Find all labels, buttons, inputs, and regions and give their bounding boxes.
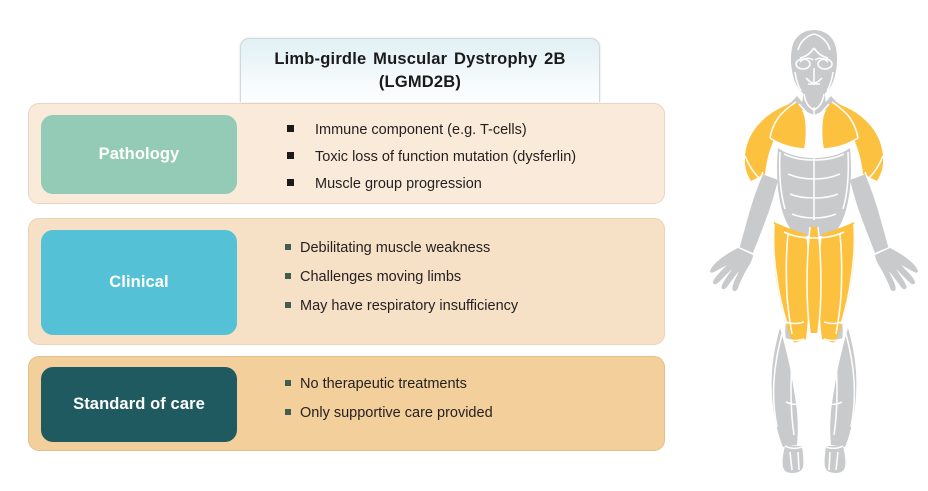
page-title: Limb-girdle Muscular Dystrophy 2B (LGMD2… (264, 48, 575, 93)
list-item: May have respiratory insufficiency (285, 298, 652, 314)
list-item: Toxic loss of function mutation (dysferl… (287, 149, 652, 165)
title-line-1: Limb-girdle Muscular Dystrophy 2B (274, 50, 565, 68)
list-item-text: Muscle group progression (315, 176, 482, 192)
bullet-list-pathology: Immune component (e.g. T-cells) Toxic lo… (287, 122, 652, 192)
bullet-square-icon (285, 302, 291, 308)
list-item-text: Debilitating muscle weakness (300, 240, 490, 256)
list-item: Debilitating muscle weakness (285, 240, 652, 256)
bullet-square-icon (287, 152, 294, 159)
list-item-text: Toxic loss of function mutation (dysferl… (315, 149, 576, 165)
bullet-square-icon (287, 125, 294, 132)
bullet-square-icon (287, 179, 294, 186)
bullet-square-icon (285, 380, 291, 386)
list-item: Muscle group progression (287, 176, 652, 192)
category-badge-clinical-label: Clinical (109, 273, 169, 292)
list-item: Challenges moving limbs (285, 269, 652, 285)
section-row-pathology: Pathology Immune component (e.g. T-cells… (28, 103, 665, 204)
list-item: Immune component (e.g. T-cells) (287, 122, 652, 138)
bullet-list-standard-of-care: No therapeutic treatments Only supportiv… (285, 376, 652, 421)
list-item-text: Challenges moving limbs (300, 269, 461, 285)
list-item-text: No therapeutic treatments (300, 376, 467, 392)
list-item: Only supportive care provided (285, 405, 652, 421)
bullet-list-clinical: Debilitating muscle weakness Challenges … (285, 240, 652, 314)
anatomy-svg (700, 22, 928, 482)
category-badge-standard-of-care-label: Standard of care (73, 395, 205, 414)
title-line-2: (LGMD2B) (379, 73, 461, 91)
section-row-standard-of-care: Standard of care No therapeutic treatmen… (28, 356, 665, 451)
bullet-square-icon (285, 273, 291, 279)
category-badge-pathology: Pathology (41, 115, 237, 194)
list-item-text: May have respiratory insufficiency (300, 298, 518, 314)
section-row-clinical: Clinical Debilitating muscle weakness Ch… (28, 218, 665, 345)
category-badge-pathology-label: Pathology (99, 145, 180, 164)
category-badge-clinical: Clinical (41, 230, 237, 335)
bullet-square-icon (285, 244, 291, 250)
list-item-text: Immune component (e.g. T-cells) (315, 122, 527, 138)
category-badge-standard-of-care: Standard of care (41, 367, 237, 442)
bullet-square-icon (285, 409, 291, 415)
list-item-text: Only supportive care provided (300, 405, 493, 421)
list-item: No therapeutic treatments (285, 376, 652, 392)
diagram-title-box: Limb-girdle Muscular Dystrophy 2B (LGMD2… (240, 38, 600, 102)
human-muscular-system-figure (700, 22, 928, 482)
